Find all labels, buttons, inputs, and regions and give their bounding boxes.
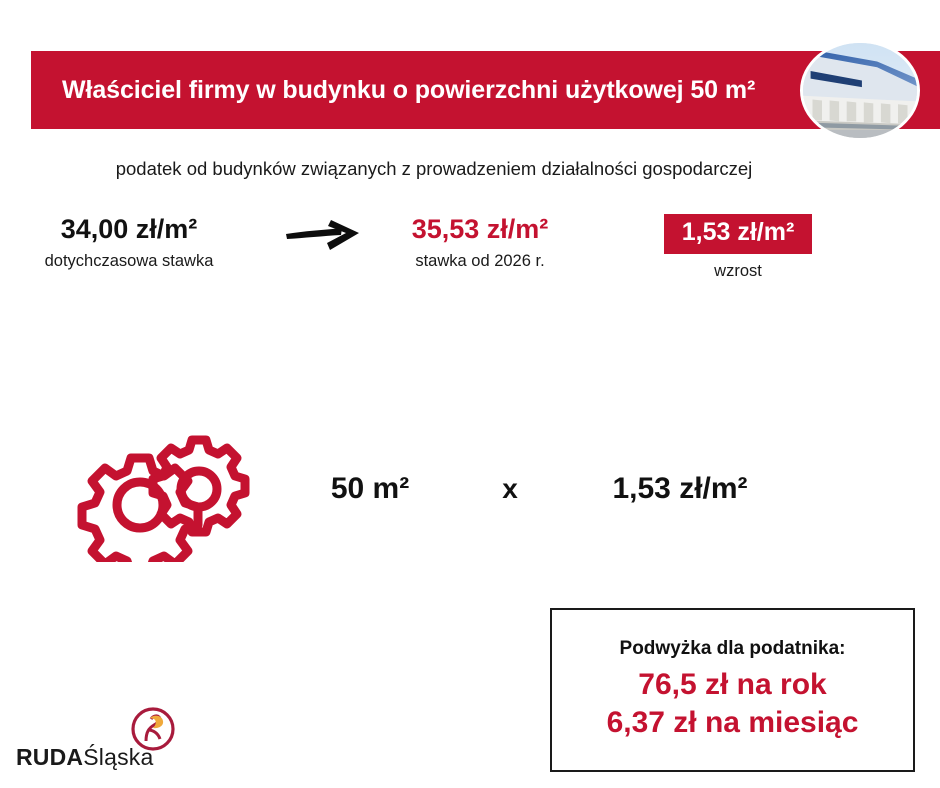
result-per-year: 76,5 zł na rok (638, 666, 826, 704)
ruda-slaska-logo: RUDAŚląska (14, 706, 194, 774)
growth-badge: 1,53 zł/m² (664, 214, 813, 254)
growth-block: 1,53 zł/m² wzrost (620, 214, 856, 281)
warehouse-building-photo (800, 40, 920, 141)
equation-operator: x (470, 473, 550, 505)
result-heading: Podwyżka dla podatnika: (620, 638, 846, 660)
calculation-equation: 50 m² x 1,53 zł/m² (270, 472, 810, 506)
infographic-slide: Właściciel firmy w budynku o powierzchni… (0, 0, 940, 788)
gears-icon (74, 432, 254, 562)
old-rate-value: 34,00 zł/m² (0, 214, 258, 245)
new-rate-block: 35,53 zł/m² stawka od 2026 r. (350, 214, 610, 271)
growth-caption: wzrost (620, 262, 856, 281)
banner-title: Właściciel firmy w budynku o powierzchni… (62, 74, 755, 106)
equation-rate: 1,53 zł/m² (550, 472, 810, 506)
old-rate-block: 34,00 zł/m² dotychczasowa stawka (0, 214, 258, 271)
equation-area: 50 m² (270, 472, 470, 506)
logo-wordmark: RUDAŚląska (16, 744, 153, 771)
logo-name-bold: RUDA (16, 744, 83, 770)
logo-name-light: Śląska (83, 744, 153, 770)
result-per-month: 6,37 zł na miesiąc (607, 704, 859, 742)
subtitle: podatek od budynków związanych z prowadz… (0, 158, 868, 180)
old-rate-caption: dotychczasowa stawka (0, 252, 258, 271)
new-rate-value: 35,53 zł/m² (350, 214, 610, 245)
new-rate-caption: stawka od 2026 r. (350, 252, 610, 271)
result-box: Podwyżka dla podatnika: 76,5 zł na rok 6… (550, 608, 915, 772)
